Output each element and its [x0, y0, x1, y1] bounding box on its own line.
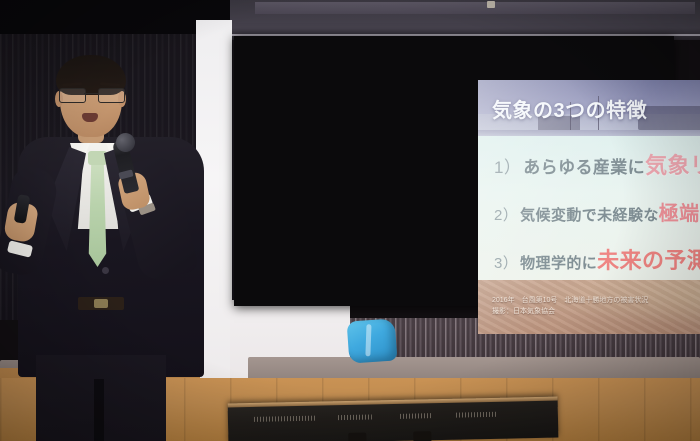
- bullet-1-number: 1）: [494, 158, 521, 177]
- trousers: [36, 355, 166, 441]
- lens-left: [59, 88, 86, 103]
- bullet-3-number: 3）: [494, 255, 518, 272]
- bullet-2-highlight: 極端気象: [659, 203, 700, 225]
- suit-button: [102, 267, 109, 274]
- slide-title: 気象の3つの特徴: [492, 94, 647, 123]
- screen-mount-bracket: [487, 1, 495, 8]
- caption-line-2: 撮影：日本気象協会: [492, 307, 648, 318]
- bullet-2-number: 2）: [494, 207, 518, 224]
- monitor-vent: [400, 413, 432, 419]
- monitor-stand-leg: [348, 433, 366, 441]
- monitor-vent: [456, 412, 498, 418]
- foreground-monitor-back: [228, 397, 559, 441]
- projection-screen: 気象の3つの特徴 1）あらゆる産業に気象リスク 2）気候変動で未経験な極端気象の…: [478, 80, 700, 334]
- bullet-1-text: あらゆる産業に: [523, 158, 645, 177]
- slide-photo-caption: 2016年 台風第10号 北海道十勝地方の被害状況 撮影：日本気象協会: [492, 296, 648, 318]
- slide-bullet-1: 1）あらゆる産業に気象リスク: [494, 148, 700, 180]
- monitor-vent: [338, 414, 372, 420]
- bullet-3-highlight: 未来の予測: [597, 248, 700, 273]
- slide-bullet-2: 2）気候変動で未経験な極端気象の出現: [494, 197, 700, 226]
- bullet-2-text: 気候変動で未経験な: [520, 207, 659, 224]
- slide-bullet-3: 3）物理学的に未来の予測が可能: [494, 243, 700, 275]
- monitor-stand-leg: [413, 431, 431, 441]
- speaker-person: [0, 55, 205, 441]
- caption-line-1: 2016年 台風第10号 北海道十勝地方の被害状況: [492, 296, 648, 307]
- eyeglasses-icon: [58, 88, 124, 101]
- presentation-photo-scene: 気象の3つの特徴 1）あらゆる産業に気象リスク 2）気候変動で未経験な極端気象の…: [0, 0, 700, 441]
- projection-screen-frame: 気象の3つの特徴 1）あらゆる産業に気象リスク 2）気候変動で未経験な極端気象の…: [234, 36, 674, 306]
- glasses-bridge: [84, 93, 98, 94]
- ceiling-trim: [255, 2, 695, 14]
- bullet-3-text: 物理学的に: [520, 255, 597, 272]
- belt-buckle: [94, 299, 108, 308]
- mouth: [82, 113, 98, 122]
- bullet-1-highlight: 気象リスク: [645, 153, 700, 178]
- necktie-knot: [88, 151, 107, 165]
- blue-cloth-bag: [347, 318, 398, 363]
- monitor-vent: [254, 416, 316, 422]
- lens-right: [98, 88, 125, 103]
